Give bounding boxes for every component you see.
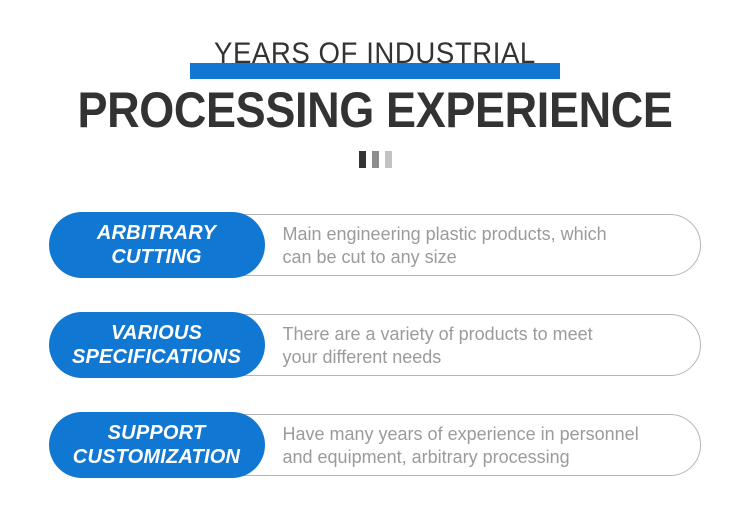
tick-medium-icon <box>372 151 379 168</box>
feature-label-pill[interactable]: ARBITRARY CUTTING <box>49 212 265 278</box>
feature-row[interactable]: ARBITRARY CUTTING Main engineering plast… <box>50 214 701 276</box>
feature-label-text: SUPPORT CUSTOMIZATION <box>73 421 240 469</box>
tick-light-icon <box>385 151 392 168</box>
eyebrow-wrapper: YEARS OF INDUSTRIAL <box>0 34 750 78</box>
page-root: YEARS OF INDUSTRIAL PROCESSING EXPERIENC… <box>0 0 750 519</box>
page-title: PROCESSING EXPERIENCE <box>38 82 713 138</box>
feature-label-pill[interactable]: VARIOUS SPECIFICATIONS <box>49 312 265 378</box>
feature-label-text: VARIOUS SPECIFICATIONS <box>72 321 241 369</box>
eyebrow-text: YEARS OF INDUSTRIAL <box>214 34 536 74</box>
feature-description: Have many years of experience in personn… <box>283 415 684 477</box>
feature-label-pill[interactable]: SUPPORT CUSTOMIZATION <box>49 412 265 478</box>
feature-list: ARBITRARY CUTTING Main engineering plast… <box>0 214 750 476</box>
header-section: YEARS OF INDUSTRIAL PROCESSING EXPERIENC… <box>0 0 750 168</box>
feature-label-text: ARBITRARY CUTTING <box>97 221 216 269</box>
feature-description: Main engineering plastic products, which… <box>283 215 680 277</box>
feature-row[interactable]: SUPPORT CUSTOMIZATION Have many years of… <box>50 414 701 476</box>
decorative-ticks <box>0 150 750 168</box>
feature-row[interactable]: VARIOUS SPECIFICATIONS There are a varie… <box>50 314 701 376</box>
tick-dark-icon <box>359 151 366 168</box>
feature-description: There are a variety of products to meet … <box>283 315 680 377</box>
